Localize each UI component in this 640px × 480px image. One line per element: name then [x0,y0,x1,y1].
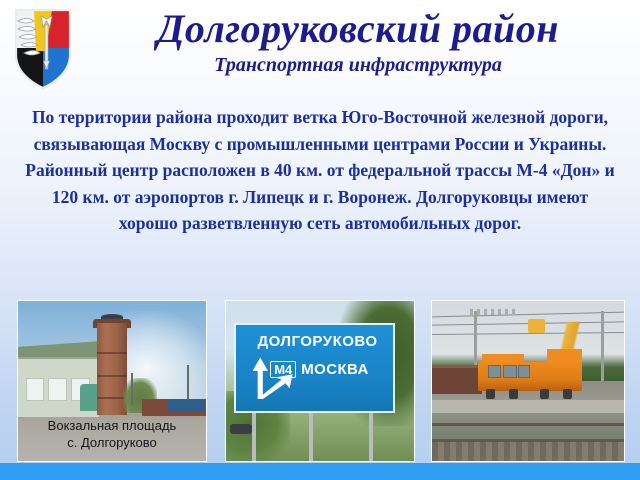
tower-band [97,375,127,377]
catenary-gantry [470,309,516,315]
sign-post [309,407,313,461]
rail [432,423,624,426]
road-sign-board: ДОЛГОРУКОВО М4 МОСКВА [234,323,396,413]
sign-route-row: М4 МОСКВА [270,361,369,378]
road-sign-photo: ДОЛГОРУКОВО М4 МОСКВА [225,300,415,462]
machine-window [503,365,517,378]
car [230,424,253,434]
window [26,378,45,401]
utility-pole [131,373,133,405]
catenary-mast [601,311,604,381]
coat-of-arms-icon [12,7,74,91]
photo-caption: Вокзальная площадь с. Долгоруково [18,417,206,451]
paragraph-2: Районный центр расположен в 40 км. от фе… [24,157,616,237]
sign-city-label: МОСКВА [301,361,368,378]
railway-machine-photo [431,300,625,462]
railway-scene [432,301,624,461]
ballast [432,442,624,461]
sign-post [369,407,373,461]
photo-strip: Вокзальная площадь с. Долгоруково ДОЛГОР… [17,300,625,462]
platform [432,400,624,413]
page-subtitle: Транспортная инфраструктура [84,53,632,77]
page-title: Долгоруковский район [84,6,632,52]
crane-head [528,319,545,333]
bogie [509,389,519,399]
bus [168,400,206,411]
sign-town-label: ДОЛГОРУКОВО [247,333,389,350]
paragraph-1: По территории района проходит ветка Юго-… [24,104,616,157]
photo-caption-line-1: Вокзальная площадь [18,417,206,434]
body-text: По территории района проходит ветка Юго-… [24,104,616,237]
title-block: Долгоруковский район Транспортная инфрас… [84,6,632,77]
machine-window [518,365,530,378]
photo-caption-line-2: с. Долгоруково [18,434,206,451]
tower-band [97,352,127,354]
machine-window [488,365,502,378]
station-square-photo: Вокзальная площадь с. Долгоруково [17,300,207,462]
route-shield-m4: М4 [270,361,296,378]
road-sign-scene: ДОЛГОРУКОВО М4 МОСКВА [226,301,414,461]
window [48,378,67,401]
bogie [486,389,496,399]
flat-wagon [432,365,482,394]
bottom-accent-bar [0,463,640,480]
slide-root: Долгоруковский район Транспортная инфрас… [0,0,640,480]
bogie [563,389,573,399]
bogie [540,389,550,399]
slide-header: Долгоруковский район Транспортная инфрас… [0,0,640,100]
sign-post [252,407,256,461]
